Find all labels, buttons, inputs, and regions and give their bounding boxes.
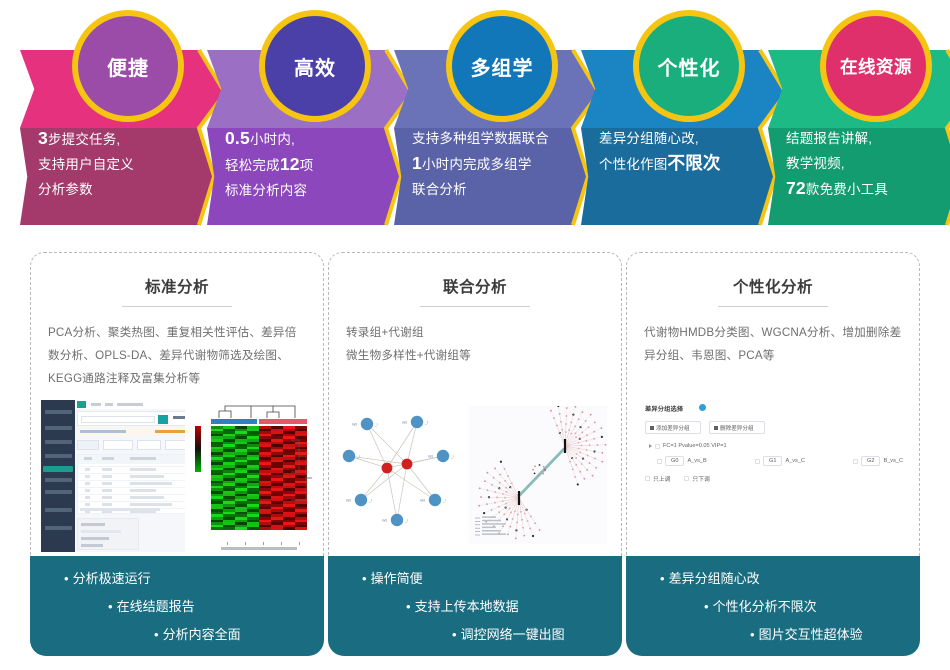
up-regulated-label: 只上调 [653,474,670,483]
svg-text:_i: _i [450,455,454,459]
card-title: 个性化分析 [627,275,919,297]
minus-icon [714,426,718,430]
regulatory-network-large [469,406,607,544]
banner-segment-text: 3步提交任务,支持用户自定义分析参数 [38,126,214,202]
benefit-item: •个性化分析不限次 [642,596,904,617]
filter-row[interactable]: FC=1 Pvalue=0.05 VIP=1 [649,443,727,449]
bullet-icon: • [660,571,665,586]
benefit-label: 分析极速运行 [73,571,151,586]
banner-segment-text: 支持多种组学数据联合1小时内完成多组学联合分析 [412,126,588,202]
title-divider [420,306,530,307]
group-item-G2[interactable]: G2B_vs_C [853,456,903,466]
benefit-item: •差异分组随心改 [642,568,904,589]
joint-analysis-network-figures: m/z_im/z_im/z_im/z_im/z_im/z_im/z_i [339,398,611,558]
card-description-line: 微生物多样性+代谢组等 [346,344,604,367]
feature-banner: 3步提交任务,支持用户自定义分析参数便捷0.5小时内,轻松完成12项标准分析内容… [0,0,950,232]
benefit-item: •操作简便 [344,568,606,589]
regulatory-network-small: m/z_im/z_im/z_im/z_im/z_im/z_im/z_i [339,402,459,552]
benefit-label: 个性化分析不限次 [713,599,817,614]
bullet-icon: • [704,599,709,614]
standard-analysis-screenshot [41,398,313,558]
filter-label: FC=1 Pvalue=0.05 VIP=1 [663,443,727,449]
add-group-label: 添加差异分组 [656,424,690,432]
benefit-label: 图片交互性超体验 [759,627,863,642]
analysis-card-2: 个性化分析代谢物HMDB分类图、WGCNA分析、增加删除差异分组、韦恩图、PCA… [626,252,920,562]
banner-badge-便捷: 便捷 [72,10,184,122]
svg-text:_i: _i [356,455,360,459]
dashboard-side-panel [77,518,139,550]
benefit-item: •图片交互性超体验 [642,624,904,645]
group-name: B_vs_C [883,458,903,464]
group-checkbox[interactable] [853,459,858,464]
group-item-G0[interactable]: G0A_vs_B [657,456,707,466]
benefit-label: 操作简便 [371,571,423,586]
plus-icon [650,426,654,430]
svg-text:_i: _i [374,423,378,427]
column-dendrogram [211,402,307,418]
svg-text:_i: _i [442,499,446,503]
benefit-label: 差异分组随心改 [669,571,760,586]
delete-group-button[interactable]: 删除差异分组 [709,421,765,434]
benefit-label: 支持上传本地数据 [415,599,519,614]
heatmap-axis-label [205,542,313,550]
bullet-icon: • [406,599,411,614]
group-name: A_vs_B [687,458,706,464]
chevron-right-icon[interactable] [649,444,652,448]
up-regulated-option[interactable]: 只上调 [645,474,670,483]
banner-badge-在线资源: 在线资源 [820,10,932,122]
group-selection-panel: 差异分组选择添加差异分组删除差异分组FC=1 Pvalue=0.05 VIP=1… [643,404,903,524]
benefit-label: 在线结题报告 [117,599,195,614]
card-title: 联合分析 [329,275,621,297]
benefit-item: •分析极速运行 [46,568,308,589]
group-color-strip [211,419,307,424]
help-icon[interactable] [699,404,706,411]
svg-text:m/z: m/z [339,455,340,459]
card-figure: 差异分组选择添加差异分组删除差异分组FC=1 Pvalue=0.05 VIP=1… [637,398,909,558]
bullet-icon: • [64,571,69,586]
group-id: G0 [665,456,684,466]
dashboard-sidebar [41,400,75,552]
benefit-label: 调控网络一键出图 [461,627,565,642]
down-regulated-option[interactable]: 只下调 [684,474,709,483]
svg-text:m/z: m/z [346,499,352,503]
card-benefits-0: •分析极速运行•在线结题报告•分析内容全面 [30,556,324,656]
banner-segment-text: 差异分组随心改,个性化作图不限次 [599,126,775,177]
bullet-icon: • [108,599,113,614]
regulation-filter-row: 只上调只下调 [645,474,710,483]
banner-badge-多组学: 多组学 [446,10,558,122]
benefit-item: •支持上传本地数据 [344,596,606,617]
card-benefits-2: •差异分组随心改•个性化分析不限次•图片交互性超体验 [626,556,920,656]
dashboard-data-table [77,454,187,514]
svg-text:m/z: m/z [352,423,358,427]
analysis-cards-row: 标准分析PCA分析、聚类热图、重复相关性评估、差异倍数分析、OPLS-DA、差异… [0,238,950,670]
svg-text:m/z: m/z [428,455,434,459]
filter-checkbox[interactable] [655,444,660,449]
row-dendrogram [291,426,313,530]
banner-segment-text: 结题报告讲解,教学视频,72款免费小工具 [786,126,950,202]
svg-text:m/z: m/z [402,421,408,425]
title-divider [122,306,232,307]
card-figure [41,398,313,558]
banner-badge-个性化: 个性化 [633,10,745,122]
group-checkbox[interactable] [657,459,662,464]
card-description: PCA分析、聚类热图、重复相关性评估、差异倍数分析、OPLS-DA、差异代谢物筛… [48,321,306,390]
benefit-label: 分析内容全面 [163,627,241,642]
benefit-item: •在线结题报告 [46,596,308,617]
heatmap-color-scale [195,426,201,472]
card-figure: m/z_im/z_im/z_im/z_im/z_im/z_im/z_i [339,398,611,558]
bullet-icon: • [362,571,367,586]
banner-segment-text: 0.5小时内,轻松完成12项标准分析内容 [225,126,401,203]
analysis-card-1: 联合分析转录组+代谢组微生物多样性+代谢组等m/z_im/z_im/z_im/z… [328,252,622,562]
group-selection-label: 差异分组选择 [645,404,683,413]
group-id: G1 [763,456,782,466]
card-description-line: 转录组+代谢组 [346,321,604,344]
banner-badge-高效: 高效 [259,10,371,122]
down-regulated-checkbox[interactable] [684,476,689,481]
group-checkbox[interactable] [755,459,760,464]
benefit-item: •调控网络一键出图 [344,624,606,645]
benefit-item: •分析内容全面 [46,624,308,645]
add-group-button[interactable]: 添加差异分组 [645,421,701,434]
up-regulated-checkbox[interactable] [645,476,650,481]
bullet-icon: • [750,627,755,642]
bullet-icon: • [452,627,457,642]
card-description: 代谢物HMDB分类图、WGCNA分析、增加删除差异分组、韦恩图、PCA等 [644,321,902,367]
clustering-heatmap [185,402,313,552]
card-description: 转录组+代谢组微生物多样性+代谢组等 [346,321,604,367]
svg-text:_i: _i [424,421,428,425]
title-divider [718,306,828,307]
bullet-icon: • [154,627,159,642]
group-item-G1[interactable]: G1A_vs_C [755,456,805,466]
group-id: G2 [861,456,880,466]
card-title: 标准分析 [31,275,323,297]
group-name: A_vs_C [785,458,805,464]
down-regulated-label: 只下调 [692,474,709,483]
svg-text:_i: _i [368,499,372,503]
svg-text:_i: _i [404,519,408,523]
analysis-card-0: 标准分析PCA分析、聚类热图、重复相关性评估、差异倍数分析、OPLS-DA、差异… [30,252,324,562]
delete-group-label: 删除差异分组 [720,424,754,432]
svg-text:m/z: m/z [420,499,426,503]
card-benefits-1: •操作简便•支持上传本地数据•调控网络一键出图 [328,556,622,656]
svg-text:m/z: m/z [382,519,388,523]
